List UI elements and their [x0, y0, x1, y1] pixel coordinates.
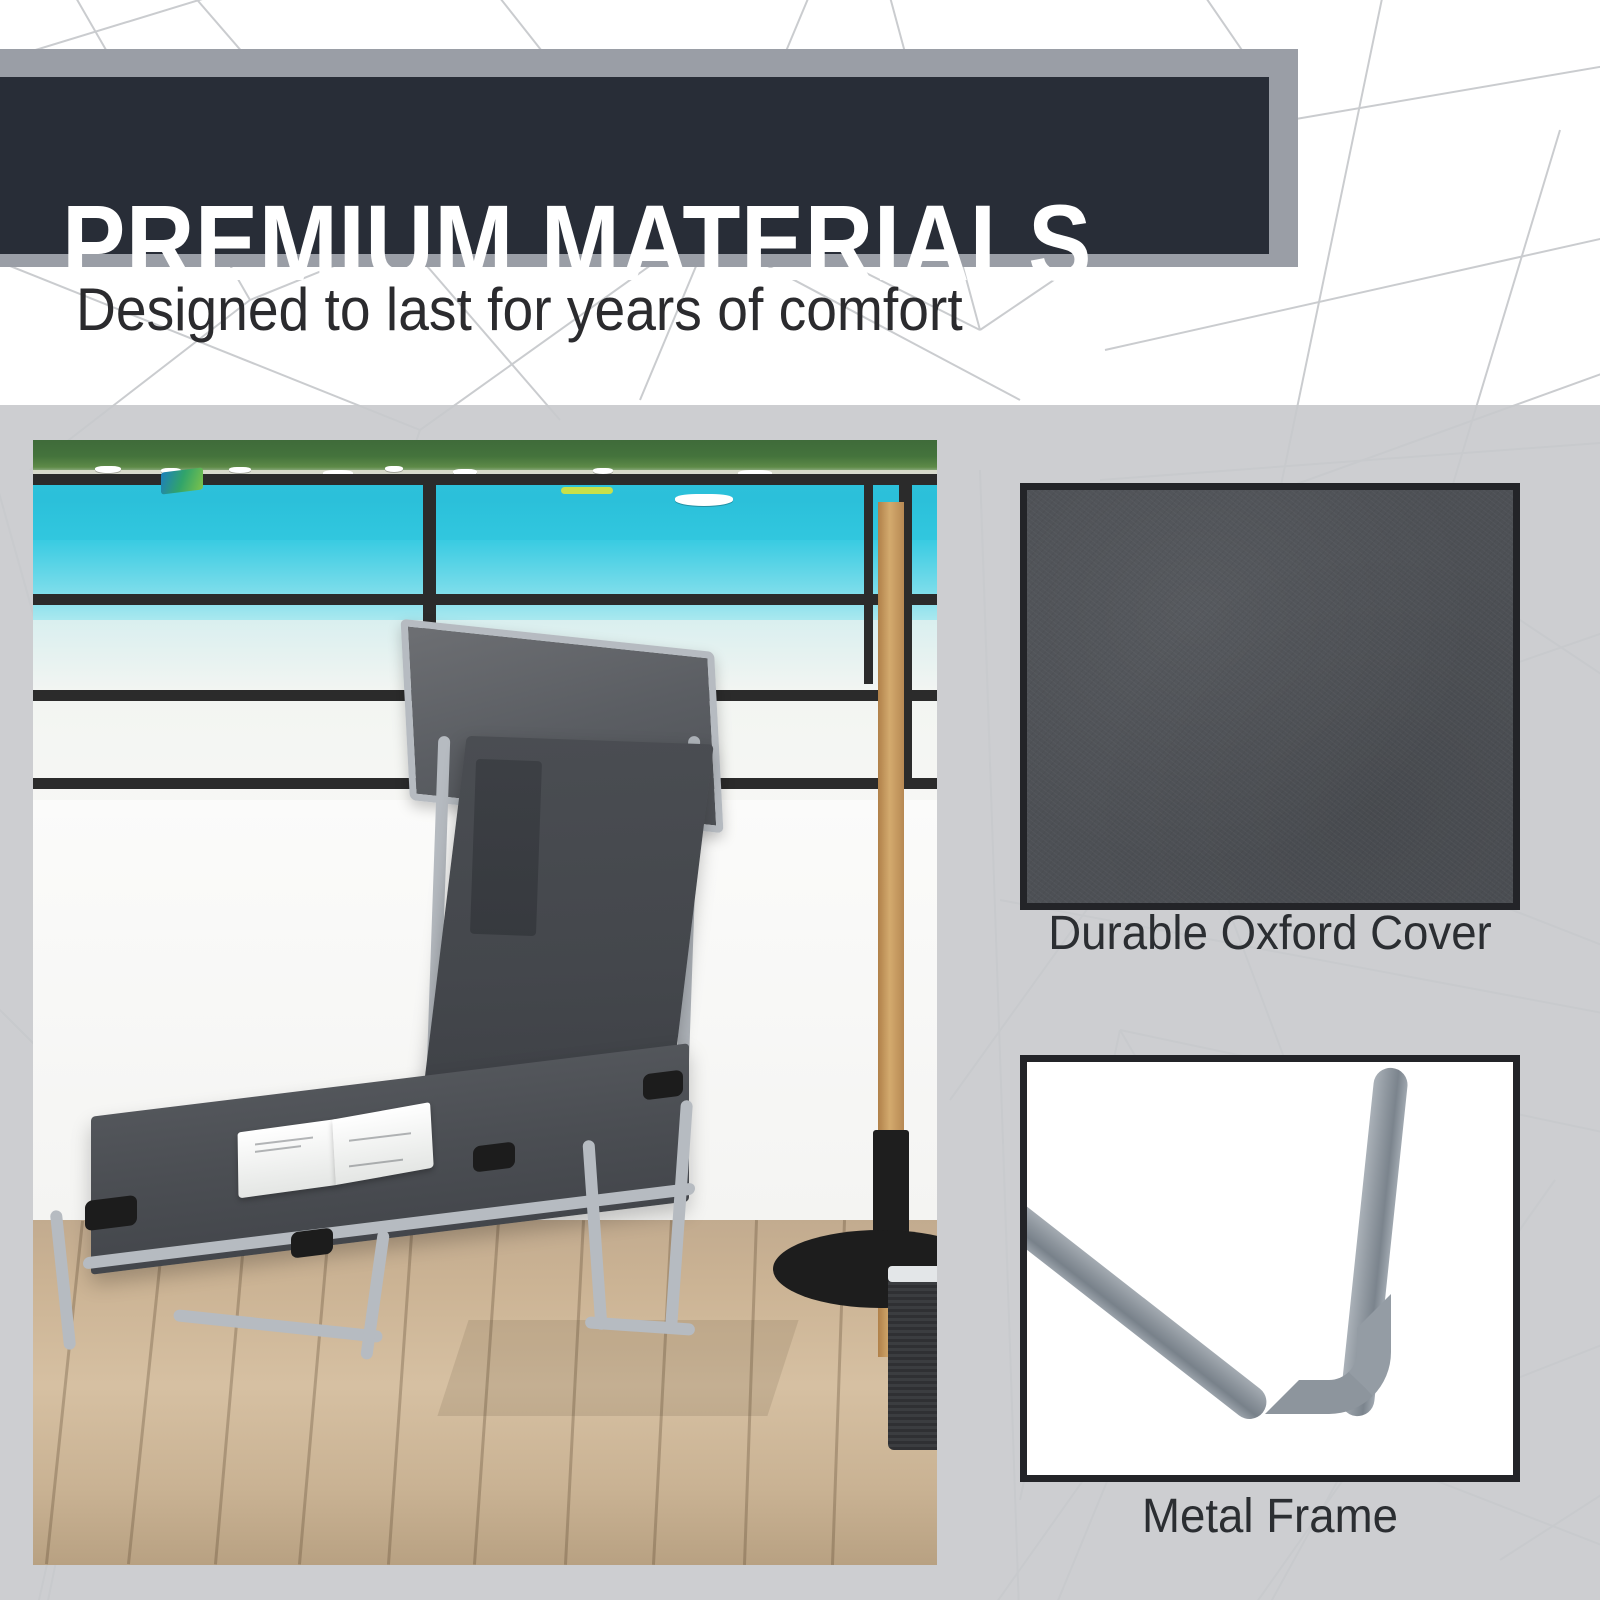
lounger-fabric-corner: [473, 1141, 515, 1172]
lounger-fabric-corner: [643, 1070, 683, 1101]
metal-tube-bend: [1265, 1294, 1391, 1414]
magazine-left-page: [238, 1119, 337, 1198]
rattan-side-table: [888, 1270, 937, 1450]
title-banner: PREMIUM MATERIALS: [0, 77, 1269, 254]
rattan-table-top: [888, 1266, 937, 1282]
boat: [95, 466, 121, 473]
metal-frame-caption: Metal Frame: [1033, 1488, 1508, 1546]
metal-tube-diagonal: [1020, 1184, 1273, 1426]
oxford-cover-swatch: [1020, 483, 1520, 910]
product-lifestyle-photo: [33, 440, 937, 1565]
marketing-infographic: PREMIUM MATERIALS Designed to last for y…: [0, 0, 1600, 1600]
deck-shadow: [437, 1320, 798, 1416]
metal-frame-closeup: [1020, 1055, 1520, 1482]
boat: [385, 466, 403, 472]
boat: [675, 494, 733, 506]
lounger-fabric-corner: [85, 1195, 137, 1231]
lounger-headrest-pad: [470, 759, 542, 936]
boat: [229, 467, 251, 473]
lounger-fabric-corner: [291, 1227, 333, 1258]
railing-post: [864, 474, 873, 684]
railing-bar: [33, 594, 937, 605]
oxford-fabric-texture: [1027, 490, 1513, 903]
shallow-water: [33, 540, 937, 630]
page-subtitle: Designed to last for years of comfort: [76, 273, 963, 347]
kayak: [561, 487, 613, 494]
oxford-cover-caption: Durable Oxford Cover: [1033, 905, 1508, 963]
